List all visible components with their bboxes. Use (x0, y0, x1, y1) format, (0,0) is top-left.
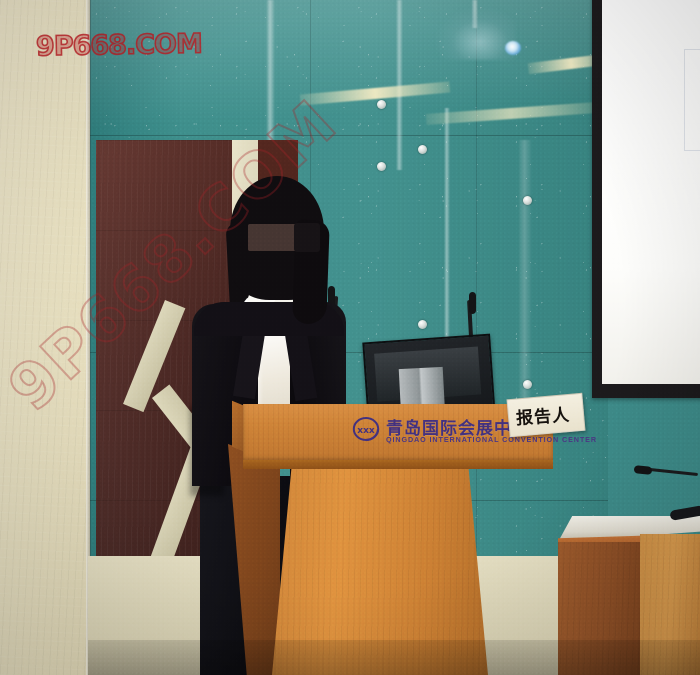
panel-fastener (377, 162, 386, 171)
wall-reflection (518, 140, 532, 440)
projection-screen-surface (602, 0, 700, 384)
wall-seam-vertical (476, 0, 477, 560)
cream-wall-left (0, 0, 90, 675)
podium-lip (243, 460, 553, 469)
panel-fastener (377, 100, 386, 109)
name-placard: 报告人 (506, 393, 585, 437)
projection-screen (592, 0, 700, 398)
podium-name-en: QINGDAO INTERNATIONAL CONVENTION CENTER (386, 435, 597, 444)
floor-shadow (88, 640, 700, 675)
ceiling-projector-reflection (436, 8, 516, 60)
panel-fastener (418, 320, 427, 329)
conference-photo: xxx 青岛国际会展中心 QINGDAO INTERNATIONAL CONVE… (0, 0, 700, 675)
name-placard-text: 报告人 (515, 400, 571, 429)
qingdao-convention-center-logo: xxx (352, 416, 382, 444)
panel-fastener (523, 380, 532, 389)
privacy-bar-extension (294, 223, 320, 252)
panel-fastener (523, 196, 532, 205)
wall-seam-horizontal (88, 135, 608, 136)
panel-fastener (418, 145, 427, 154)
ceiling-lamp-glow (505, 41, 521, 55)
microphone-capsule (469, 292, 476, 314)
svg-text:xxx: xxx (357, 426, 375, 436)
table-microphone-capsule (634, 465, 653, 475)
projected-content-outline (684, 49, 700, 151)
